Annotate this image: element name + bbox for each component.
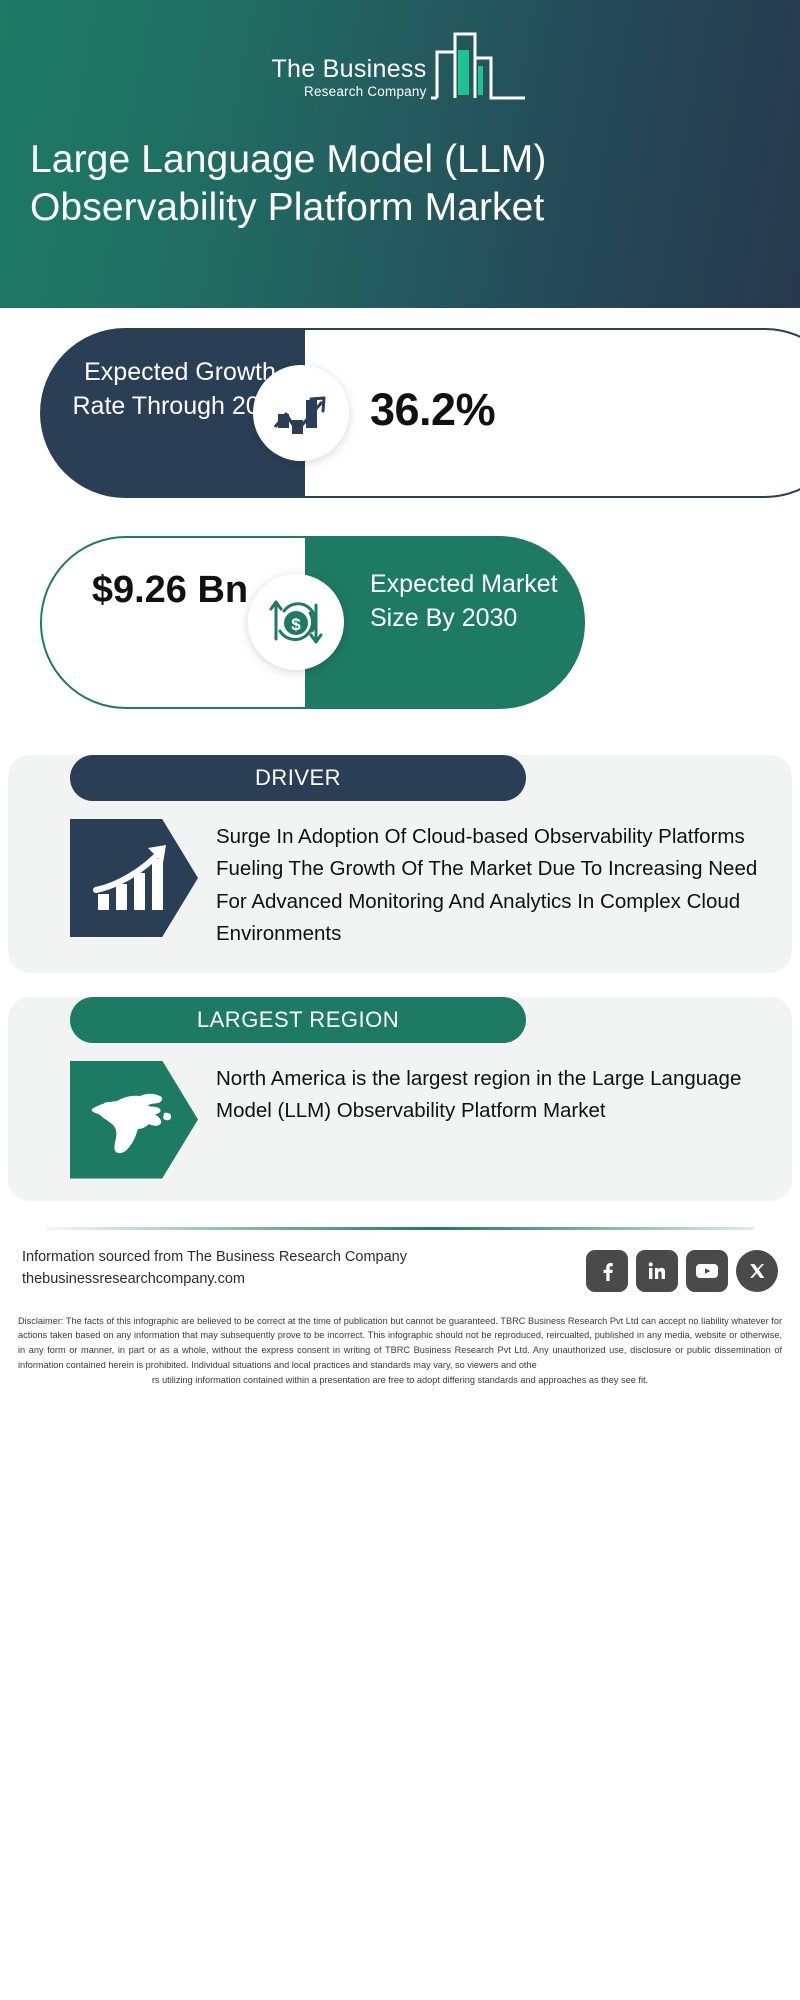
driver-body: Surge In Adoption Of Cloud-based Observa… [8,801,792,973]
growth-value-text: 36.2% [370,384,650,436]
footer-source: Information sourced from The Business Re… [22,1246,586,1291]
social-links [586,1246,778,1292]
marketsize-label-text: Expected Market Size By 2030 [370,568,600,635]
region-body-text: North America is the largest region in t… [216,1061,772,1179]
panel-largest-region: LARGEST REGION North America is the larg… [8,997,792,1201]
stat-market-size: $9.26 Bn Expected Market Size By 2030 $ [0,536,800,731]
disclaimer-text: Disclaimer: The facts of this infographi… [0,1292,800,1389]
marketsize-icon-badge: $ [248,574,344,670]
infographic-page: The Business Research Company Large Lang… [0,0,800,2000]
panel-driver: DRIVER Surge In Adoption Of Cloud-based … [8,755,792,973]
disclaimer-main: Disclaimer: The facts of this infographi… [18,1316,782,1371]
facebook-icon[interactable] [586,1250,628,1292]
dollar-circular-arrows-icon: $ [266,593,326,651]
marketsize-value-text: $9.26 Bn [60,566,280,615]
page-title: Large Language Model (LLM) Observability… [30,136,770,232]
stat-growth-rate: Expected Growth Rate Through 2030 36.2% [0,328,800,518]
logo-primary-text: The Business [271,57,426,82]
driver-heading-text: DRIVER [255,765,341,791]
youtube-icon[interactable] [686,1250,728,1292]
linkedin-icon[interactable] [636,1250,678,1292]
growth-bar-chart-arrow-icon [272,386,330,440]
driver-body-text: Surge In Adoption Of Cloud-based Observa… [216,819,772,951]
region-heading-text: LARGEST REGION [197,1007,399,1033]
footer: Information sourced from The Business Re… [0,1230,800,1292]
logo-text-block: The Business Research Company [271,57,426,106]
region-body: North America is the largest region in t… [8,1043,792,1201]
footer-source-line2[interactable]: thebusinessresearchcompany.com [22,1268,586,1290]
rising-bar-chart-arrow-icon [92,840,176,916]
north-america-map-icon [88,1083,180,1157]
region-heading-pill: LARGEST REGION [70,997,526,1043]
svg-text:$: $ [291,615,301,634]
x-twitter-icon[interactable] [736,1250,778,1292]
footer-source-line1: Information sourced from The Business Re… [22,1246,586,1268]
disclaimer-last-line: rs utilizing information contained withi… [18,1373,782,1388]
company-logo: The Business Research Company [0,26,800,106]
logo-secondary-text: Research Company [304,82,427,102]
bar-chart-logo-icon [429,26,529,106]
growth-icon-badge [253,365,349,461]
header-banner: The Business Research Company Large Lang… [0,0,800,308]
region-icon-badge [70,1061,198,1179]
driver-icon-badge [70,819,198,937]
driver-heading-pill: DRIVER [70,755,526,801]
